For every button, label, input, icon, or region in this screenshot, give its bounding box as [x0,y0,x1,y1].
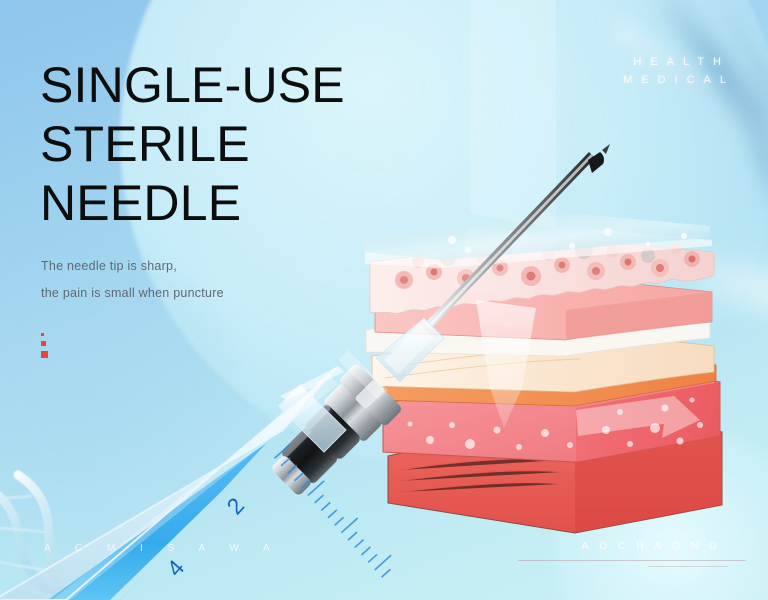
accent-dot-small [41,333,44,336]
accent-dot-medium [41,341,46,346]
watermark-medical: MEDICAL [623,74,735,86]
poster-canvas: 2 4 SINGLE-USE STERILE NEEDLE The needle… [0,0,768,600]
subtitle-line-1: The needle tip is sharp, [41,259,177,273]
watermark-brand-left: A C M I S A W A [44,543,281,554]
subtitle-line-2: the pain is small when puncture [41,286,224,300]
watermark-health: HEALTH [633,56,730,68]
accent-dots [41,333,48,358]
syringe-scale-label-2: 2 [221,492,249,519]
footer-rule-long [518,560,746,561]
footer-rule-short [648,566,728,567]
syringe-scale-label-4: 4 [161,554,189,581]
accent-dot-large [41,351,48,358]
watermark-brand-right: AOCHAGNG [582,541,728,552]
page-title: SINGLE-USE STERILE NEEDLE [40,56,345,233]
